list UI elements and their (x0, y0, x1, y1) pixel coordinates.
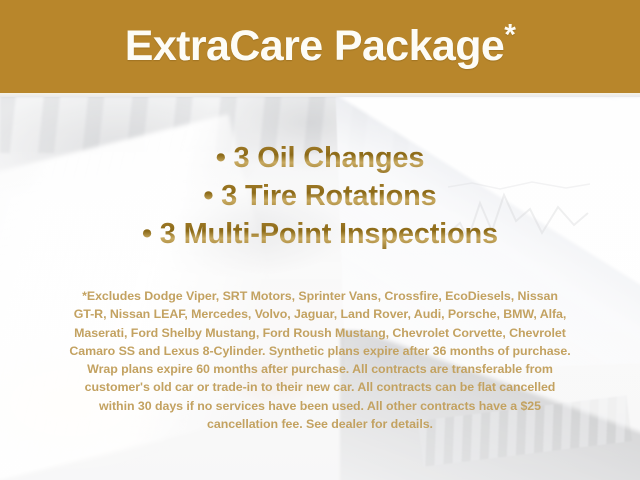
benefits-list: • 3 Oil Changes • 3 Tire Rotations • 3 M… (0, 139, 640, 253)
disclaimer-line: Wrap plans expire 60 months after purcha… (28, 360, 612, 378)
disclaimer-line: Camaro SS and Lexus 8-Cylinder. Syntheti… (28, 342, 612, 360)
page-title-asterisk: * (504, 19, 515, 52)
disclaimer-line: Maserati, Ford Shelby Mustang, Ford Rous… (28, 324, 612, 342)
header-bar: ExtraCare Package* (0, 0, 640, 93)
extracare-package-promo-card: ExtraCare Package* • 3 Oil Changes • 3 T… (0, 0, 640, 480)
disclaimer-line: *Excludes Dodge Viper, SRT Motors, Sprin… (28, 287, 612, 305)
disclaimer-line: cancellation fee. See dealer for details… (28, 415, 612, 433)
list-item: • 3 Tire Rotations (0, 177, 640, 215)
header-underline-divider (0, 93, 640, 97)
disclaimer-line: customer's old car or trade-in to their … (28, 378, 612, 396)
list-item: • 3 Oil Changes (0, 139, 640, 177)
page-title-text: ExtraCare Package (125, 22, 504, 70)
disclaimer-line: GT-R, Nissan LEAF, Mercedes, Volvo, Jagu… (28, 305, 612, 323)
page-title: ExtraCare Package* (125, 25, 516, 68)
disclaimer-text: *Excludes Dodge Viper, SRT Motors, Sprin… (28, 287, 612, 433)
disclaimer-line: within 30 days if no services have been … (28, 397, 612, 415)
list-item: • 3 Multi-Point Inspections (0, 215, 640, 253)
